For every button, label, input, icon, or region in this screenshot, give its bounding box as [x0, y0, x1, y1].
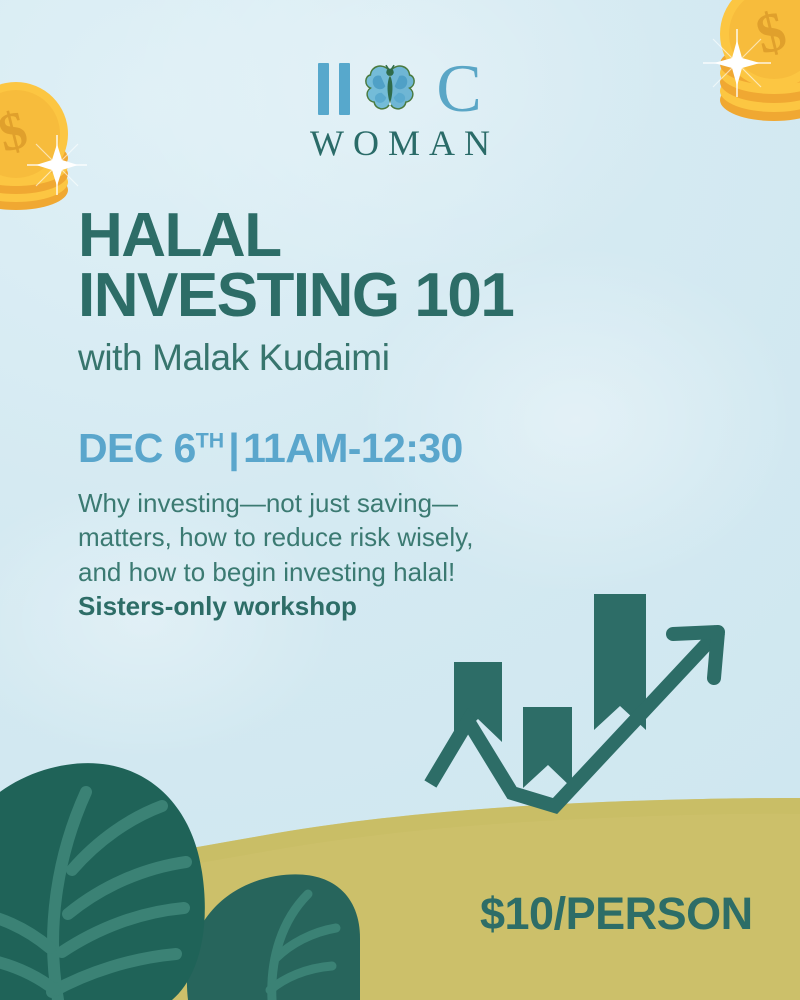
presenter-name: with Malak Kudaimi	[78, 337, 738, 379]
content-block: HALAL INVESTING 101 with Malak Kudaimi D…	[78, 206, 738, 623]
logo-wordmark: WOMAN	[0, 122, 800, 164]
event-datetime: DEC 6TH|11AM-12:30	[78, 425, 738, 472]
event-date: DEC 6	[78, 425, 196, 471]
date-ordinal-suffix: TH	[196, 428, 224, 452]
headline-line-1: HALAL	[78, 206, 738, 266]
bar-glyph-icon	[339, 63, 350, 115]
butterfly-icon	[362, 61, 418, 117]
description-line-1: Why investing—not just saving—	[78, 486, 548, 520]
price-label: $10/PERSON	[480, 888, 753, 940]
logo-letter-c: C	[436, 61, 481, 117]
event-time: 11AM-12:30	[243, 425, 463, 471]
logo-mark-row: C	[0, 58, 800, 120]
brand-logo: C WOMAN	[0, 58, 800, 164]
bar-glyph-icon	[318, 63, 329, 115]
headline-line-2: INVESTING 101	[78, 266, 738, 326]
page-title: HALAL INVESTING 101	[78, 206, 738, 325]
growth-chart-icon	[420, 578, 750, 828]
leaf-illustration	[0, 700, 360, 1000]
poster-canvas: $ $	[0, 0, 800, 1000]
description-line-2: matters, how to reduce risk wisely,	[78, 520, 548, 554]
chart-bar-2	[523, 707, 572, 788]
datetime-separator: |	[224, 425, 243, 471]
